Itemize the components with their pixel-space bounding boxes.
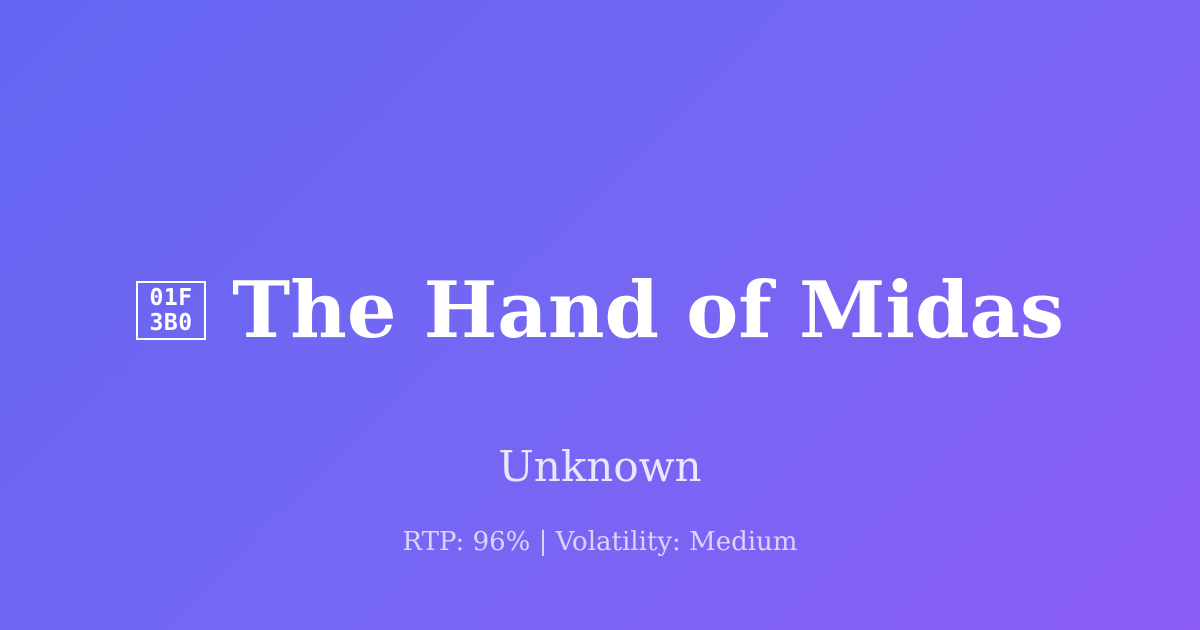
title-row: 01F 3B0 The Hand of Midas <box>0 218 1200 404</box>
og-preview-card: 01F 3B0 The Hand of Midas Unknown RTP: 9… <box>0 0 1200 630</box>
slot-machine-emoji-icon: 01F 3B0 <box>136 281 206 340</box>
page-subtitle: Unknown <box>498 442 701 492</box>
tofu-codepoint-top: 01F <box>150 286 193 311</box>
hero-block: 01F 3B0 The Hand of Midas Unknown <box>0 218 1200 492</box>
tofu-codepoint-bottom: 3B0 <box>150 311 193 336</box>
game-stats-line: RTP: 96% | Volatility: Medium <box>0 527 1200 558</box>
page-title: The Hand of Midas <box>232 270 1064 351</box>
